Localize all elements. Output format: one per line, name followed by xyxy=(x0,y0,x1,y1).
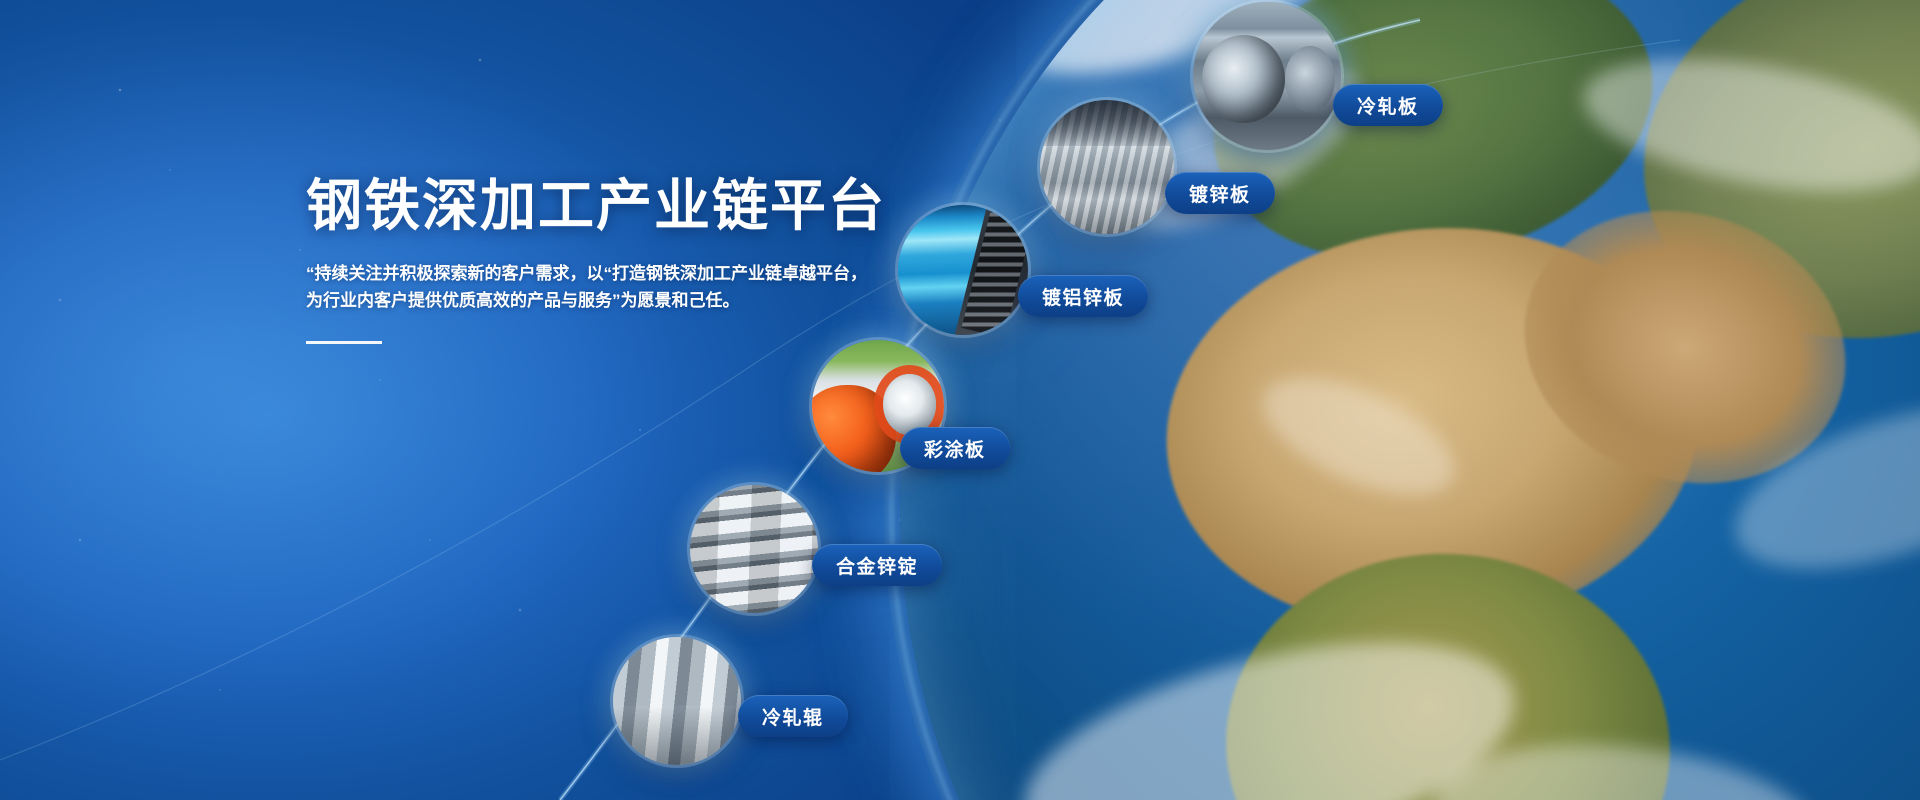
starfield-background xyxy=(0,0,1920,800)
cloud-band xyxy=(1003,600,1538,800)
landmass-asia xyxy=(1597,0,1920,394)
hero-subtitle-line-1: “持续关注并积极探索新的客户需求，以“打造钢铁深加工产业链卓越平台， xyxy=(306,260,926,288)
landmass-arabia xyxy=(1488,170,1880,524)
cloud-band xyxy=(1716,374,1920,601)
product-chain-connector-line xyxy=(0,0,1920,800)
thumbnail-artwork xyxy=(1040,100,1174,234)
cloud-band xyxy=(1426,727,1824,800)
thumbnail-artwork xyxy=(1193,2,1341,150)
product-label-aluzinc-plate[interactable]: 镀铝锌板 xyxy=(1018,275,1148,317)
thumbnail-artwork xyxy=(690,485,818,613)
title-underline-rule xyxy=(306,341,382,344)
zinc-alloy-ingots-photo[interactable] xyxy=(690,485,818,613)
atmospheric-haze xyxy=(0,0,1920,800)
product-label-cold-rolled-plate[interactable]: 冷轧板 xyxy=(1333,84,1443,126)
hero-subtitle-line-2: 为行业内客户提供优质高效的产品与服务”为愿景和己任。 xyxy=(306,287,926,315)
aluzinc-coil-photo[interactable] xyxy=(898,205,1028,335)
product-label-color-coated-plate[interactable]: 彩涂板 xyxy=(900,427,1010,469)
hero-subtitle: “持续关注并积极探索新的客户需求，以“打造钢铁深加工产业链卓越平台， 为行业内客… xyxy=(306,260,926,315)
hero-banner: 钢铁深加工产业链平台 “持续关注并积极探索新的客户需求，以“打造钢铁深加工产业链… xyxy=(0,0,1920,800)
product-label-galvanized-plate[interactable]: 镀锌板 xyxy=(1165,172,1275,214)
hero-copy-block: 钢铁深加工产业链平台 “持续关注并积极探索新的客户需求，以“打造钢铁深加工产业链… xyxy=(306,175,926,344)
cloud-band xyxy=(1246,353,1471,518)
thumbnail-artwork xyxy=(898,205,1028,335)
cold-rolled-coils-photo[interactable] xyxy=(1193,2,1341,150)
thumbnail-artwork xyxy=(613,637,741,765)
landmass-southern-africa xyxy=(1213,539,1683,800)
product-label-zinc-alloy-ingot[interactable]: 合金锌锭 xyxy=(812,544,942,586)
cloud-band xyxy=(1573,36,1920,214)
product-label-cold-rolling-roll[interactable]: 冷轧辊 xyxy=(738,695,848,737)
galvanized-warehouse-photo[interactable] xyxy=(1040,100,1174,234)
landmass-sahara xyxy=(1147,202,1719,655)
page-title: 钢铁深加工产业链平台 xyxy=(306,175,926,238)
cold-rolling-rolls-photo[interactable] xyxy=(613,637,741,765)
